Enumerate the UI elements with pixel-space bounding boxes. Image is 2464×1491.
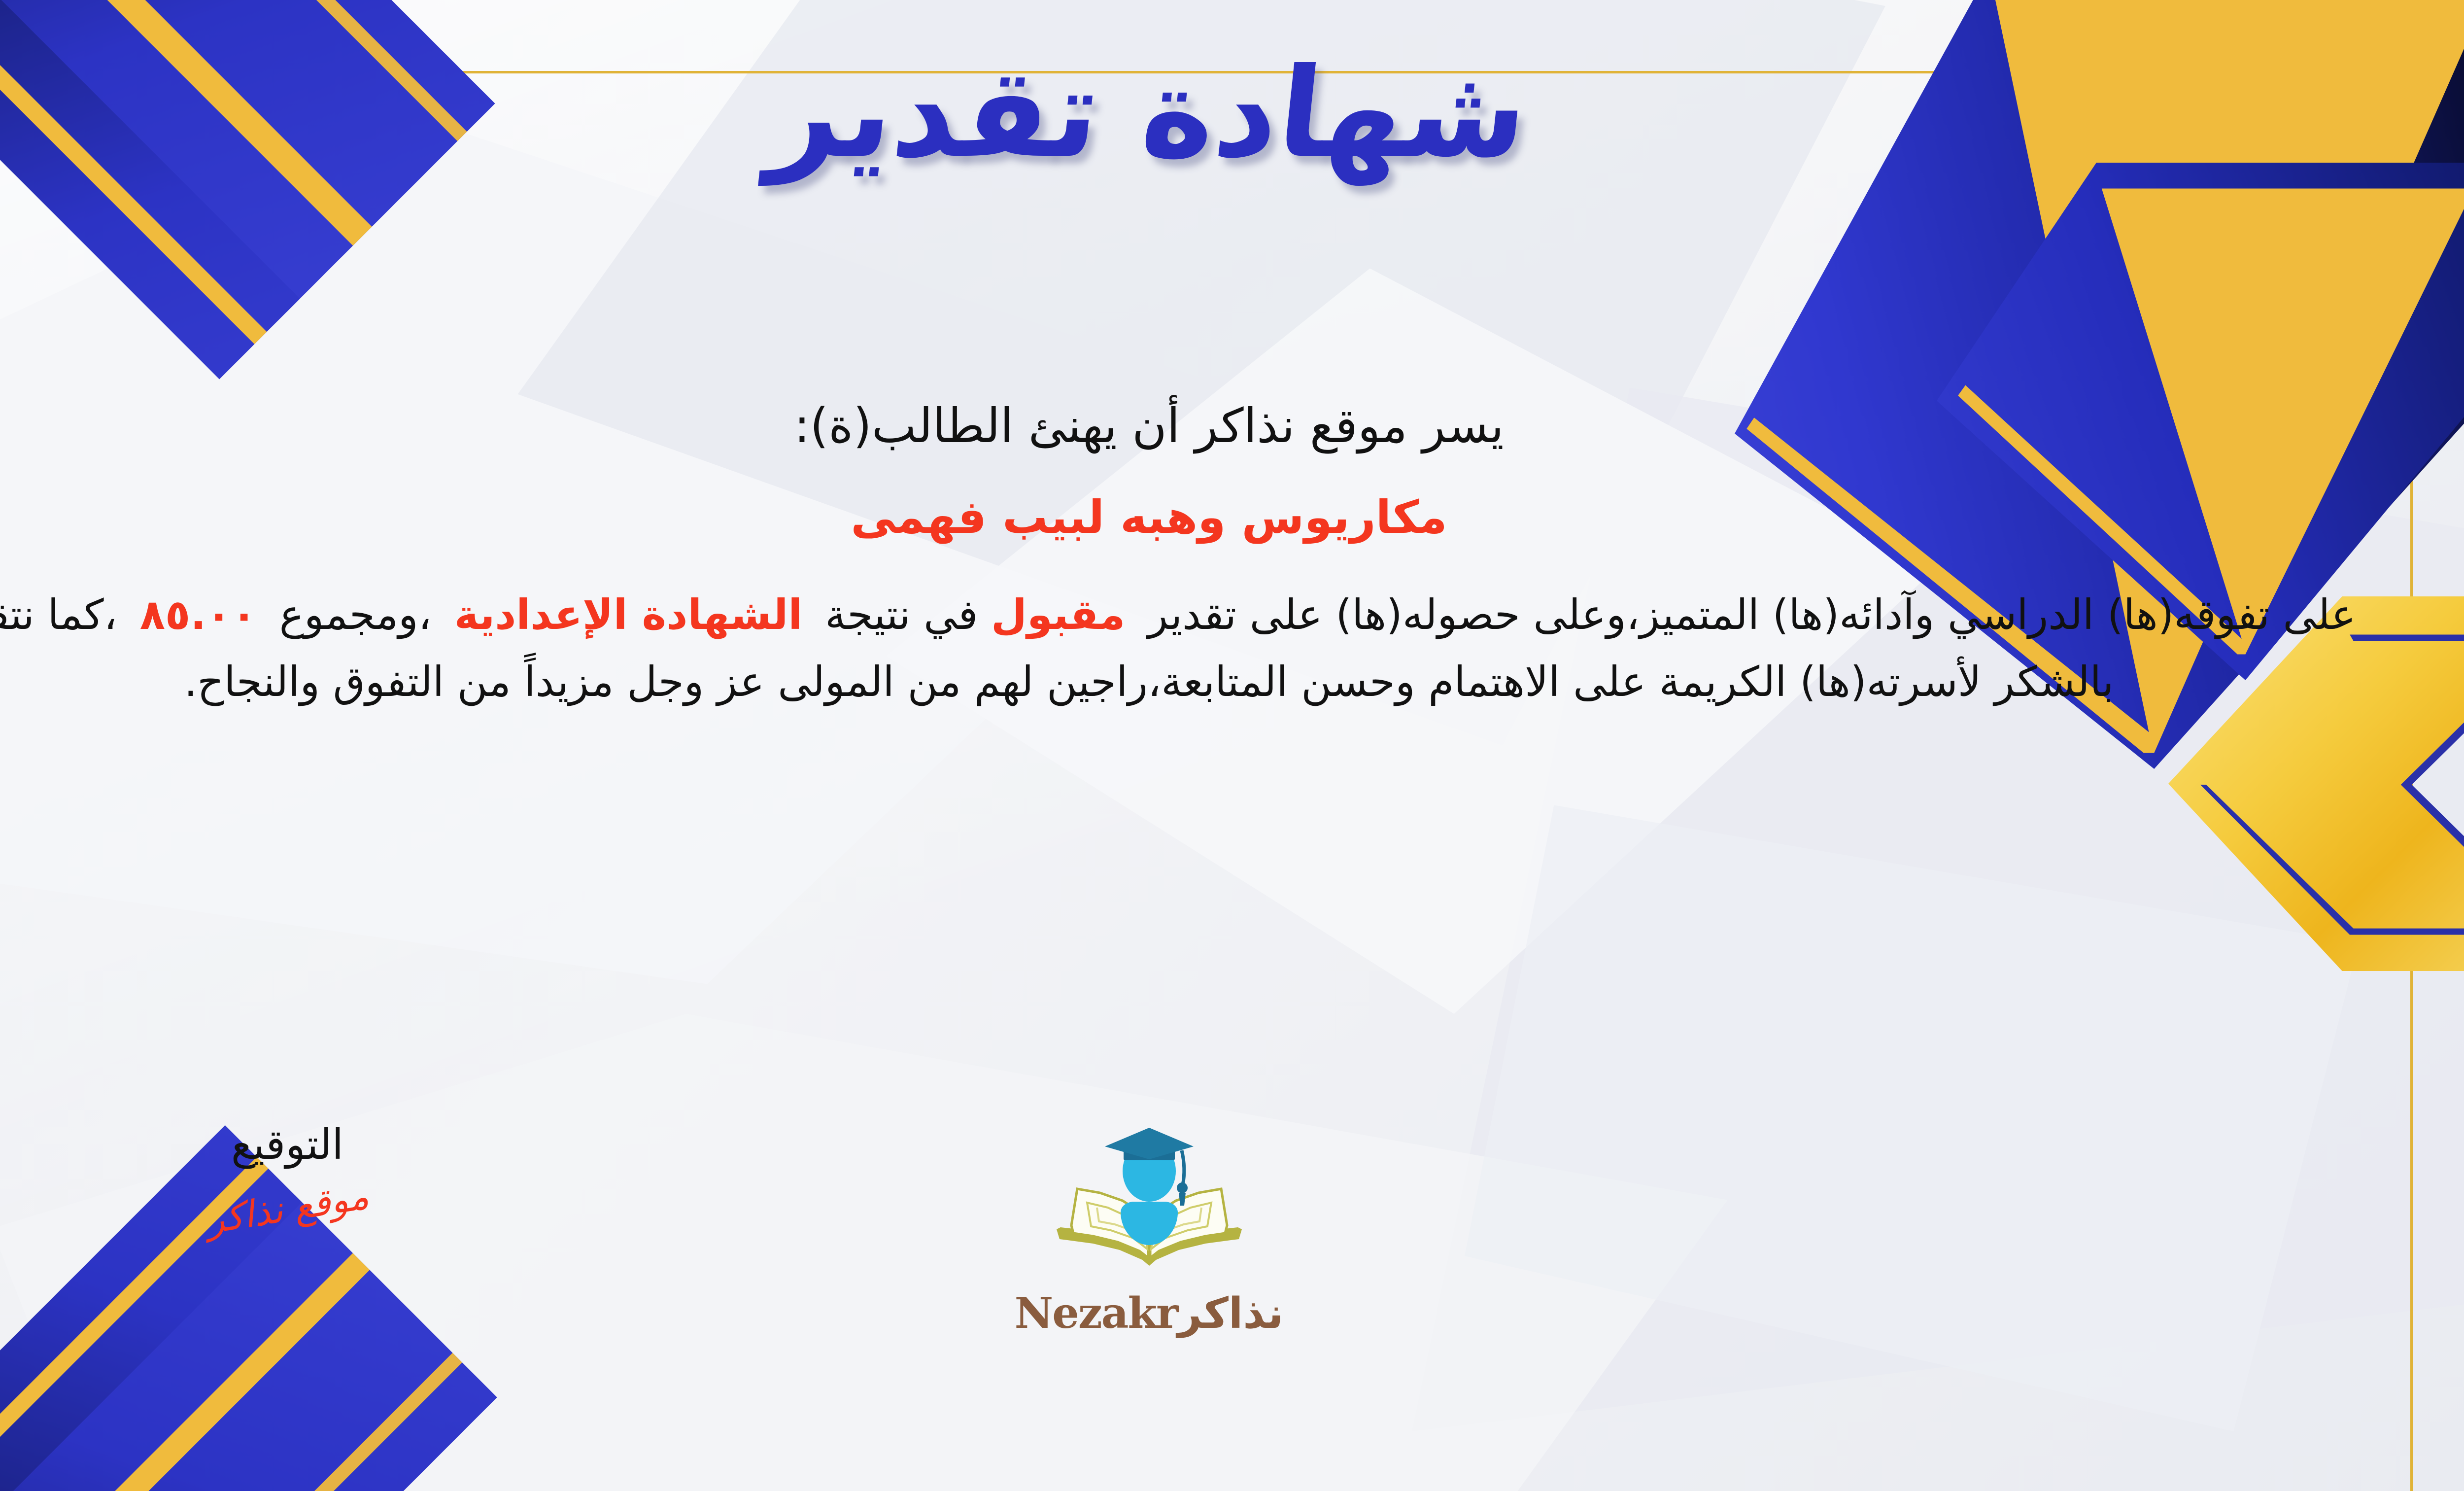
grade-value: مقبول [991,590,1125,639]
body-line2-prefix: في نتيجة [825,590,978,639]
logo-wordmark: Nezakrنذاكر [962,1288,1336,1338]
student-name: مكاريوس وهبه لبيب فهمى [0,488,2385,547]
logo-latin: Nezakr [1015,1288,1178,1338]
certificate-footer: التوقيع موقع نذاكر [0,1124,2464,1429]
body-line1-text: على تفوقه(ها) الدراسي وآدائه(ها) المتميز… [1148,590,2356,639]
certificate-body: يسر موقع نذاكر أن يهنئ الطالب(ة): مكاريو… [0,394,2385,715]
nezakr-logo: Nezakrنذاكر [962,1124,1336,1338]
exam-name: الشهادة الإعدادية [454,590,802,639]
certificate-title-zone: شهادة تقدير [0,30,2464,197]
logo-arabic: نذاكر [1177,1289,1283,1338]
total-score: ٨٥.٠٠ [140,590,257,639]
signature-mark: موقع نذاكر [204,1177,372,1242]
certificate-title: شهادة تقدير [764,52,1534,175]
body-line3: الكريمة على الاهتمام وحسن المتابعة،راجين… [627,658,1786,706]
signature-block: التوقيع موقع نذاكر [149,1124,425,1229]
body-paragraph: على تفوقه(ها) الدراسي وآدائه(ها) المتميز… [0,581,2385,715]
greeting-line: يسر موقع نذاكر أن يهنئ الطالب(ة): [0,394,2385,458]
signature-label: التوقيع [149,1124,425,1165]
body-line4: مزيداً من التفوق والنجاح. [184,658,614,706]
certificate-canvas: شهادة تقدير يسر موقع نذاكر أن يهنئ الطال… [0,0,2464,1491]
body-total-label: ،ومجموع [279,590,432,639]
graduate-book-icon [1046,1124,1253,1286]
